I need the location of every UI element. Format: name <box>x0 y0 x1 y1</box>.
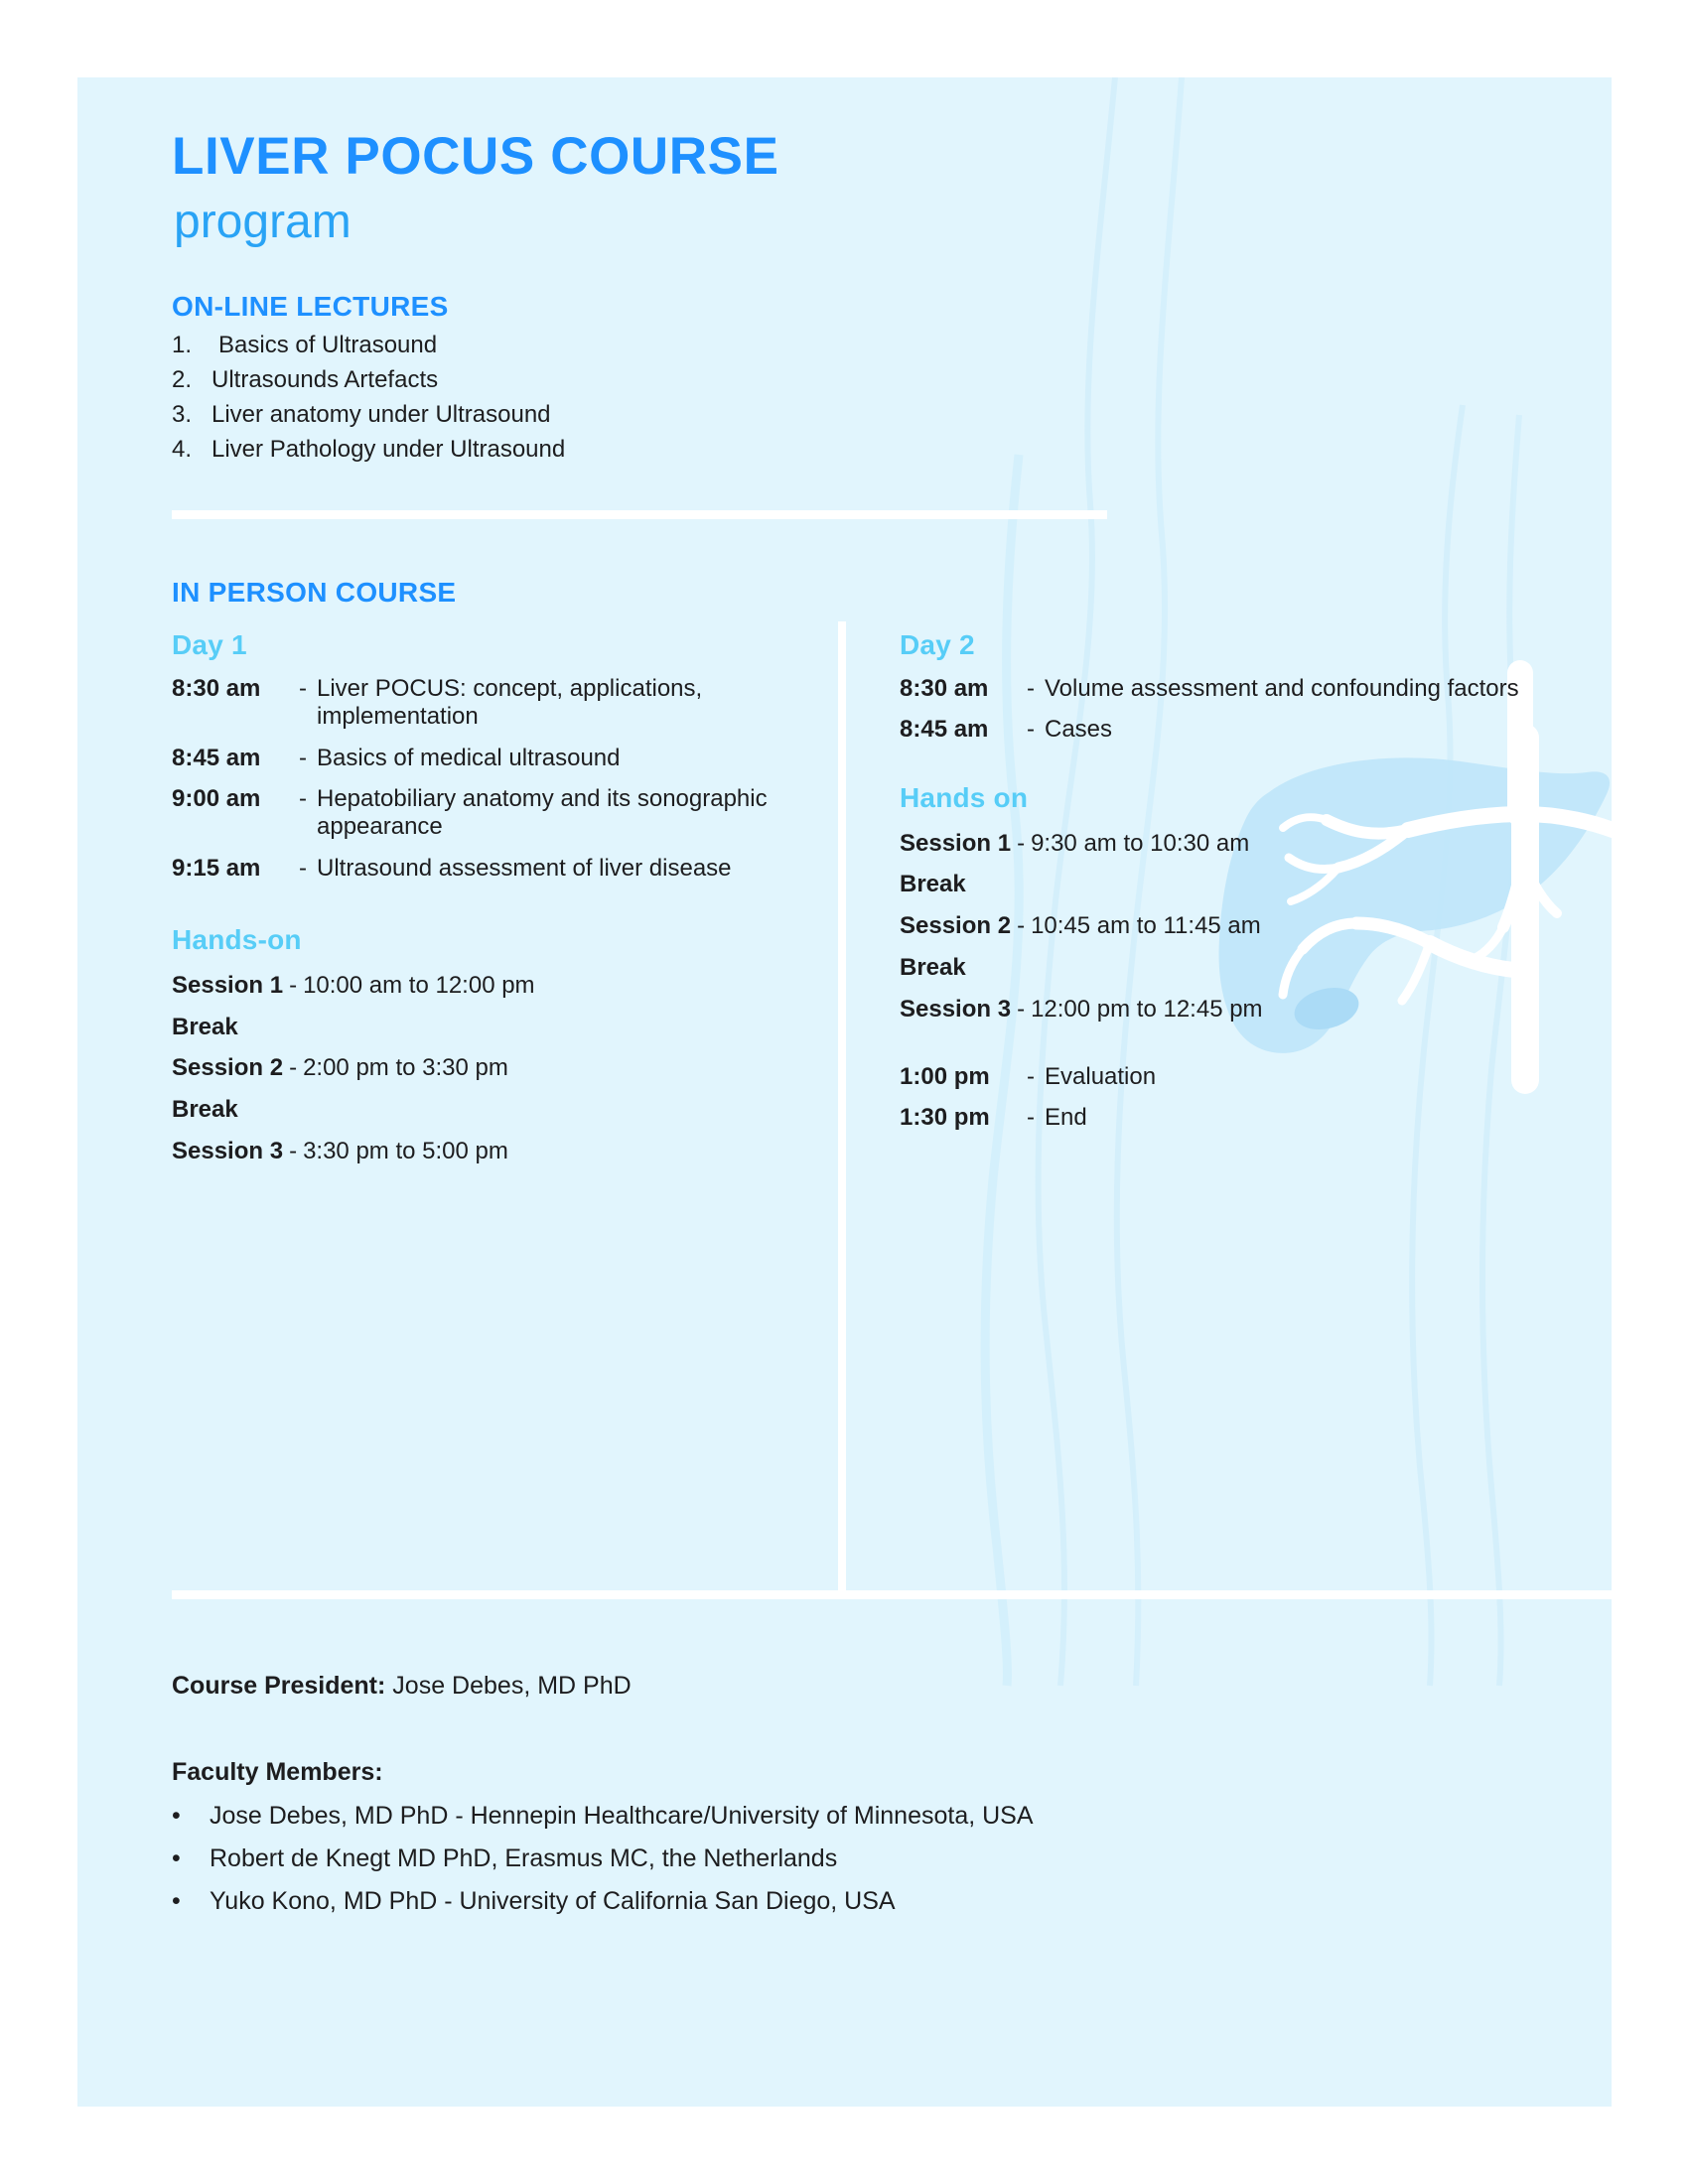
section-divider-top <box>172 510 1107 519</box>
schedule-dash: - <box>289 855 317 883</box>
schedule-description: Liver POCUS: concept, applications, impl… <box>317 675 807 732</box>
session-time: 12:00 pm to 12:45 pm <box>1031 996 1262 1024</box>
list-item-label: Liver Pathology under Ultrasound <box>211 438 565 462</box>
faculty-section: Course President: Jose Debes, MD PhD Fac… <box>172 1671 1542 1929</box>
schedule-dash: - <box>289 675 317 703</box>
bullet-icon: • <box>172 1801 210 1831</box>
session-time: 9:30 am to 10:30 am <box>1031 830 1249 859</box>
list-item: • Jose Debes, MD PhD - Hennepin Healthca… <box>172 1801 1542 1831</box>
schedule-dash: - <box>1017 716 1045 744</box>
break-row: Break <box>172 1096 807 1125</box>
session-time: 2:00 pm to 3:30 pm <box>303 1054 508 1083</box>
list-item-number: 4. <box>172 438 211 462</box>
schedule-row: 9:15 am - Ultrasound assessment of liver… <box>172 855 807 883</box>
spacer <box>900 1037 1545 1063</box>
list-item-number: 2. <box>172 368 211 392</box>
list-item-label: Basics of Ultrasound <box>211 334 437 357</box>
schedule-row: 9:00 am - Hepatobiliary anatomy and its … <box>172 785 807 842</box>
day-2-column: Day 2 8:30 am - Volume assessment and co… <box>900 629 1545 1145</box>
section-divider-bottom <box>172 1590 1612 1599</box>
schedule-time: 8:30 am <box>172 675 289 703</box>
schedule-dash: - <box>1017 1063 1045 1091</box>
schedule-time: 9:15 am <box>172 855 289 883</box>
program-page: LIVER POCUS COURSE program ON-LINE LECTU… <box>77 77 1612 2107</box>
schedule-time: 8:45 am <box>172 745 289 772</box>
session-time: 3:30 pm to 5:00 pm <box>303 1138 508 1166</box>
session-row: Session 1 - 9:30 am to 10:30 am <box>900 830 1545 859</box>
day-2-hands-on-heading: Hands on <box>900 782 1545 814</box>
schedule-row: 8:45 am - Cases <box>900 716 1545 744</box>
list-item: 3. Liver anatomy under Ultrasound <box>172 403 565 427</box>
course-president: Course President: Jose Debes, MD PhD <box>172 1671 1542 1701</box>
column-divider <box>838 621 846 1590</box>
schedule-description: Ultrasound assessment of liver disease <box>317 855 807 883</box>
list-item: • Robert de Knegt MD PhD, Erasmus MC, th… <box>172 1843 1542 1873</box>
session-row: Session 1 - 10:00 am to 12:00 pm <box>172 972 807 1001</box>
online-lectures-heading: ON-LINE LECTURES <box>172 291 449 323</box>
schedule-time: 8:45 am <box>900 716 1017 744</box>
session-separator: - <box>283 972 303 1001</box>
list-item-number: 1. <box>172 334 211 357</box>
schedule-time: 9:00 am <box>172 785 289 813</box>
page-header: LIVER POCUS COURSE program <box>172 129 779 248</box>
schedule-time: 8:30 am <box>900 675 1017 703</box>
schedule-dash: - <box>1017 675 1045 703</box>
session-separator: - <box>1011 912 1031 941</box>
break-row: Break <box>900 954 1545 983</box>
schedule-description: Cases <box>1045 716 1545 744</box>
session-label: Session 1 <box>900 830 1011 859</box>
list-item: 2. Ultrasounds Artefacts <box>172 368 565 392</box>
session-separator: - <box>283 1138 303 1166</box>
break-row: Break <box>172 1014 807 1042</box>
session-separator: - <box>1011 996 1031 1024</box>
list-item: 4. Liver Pathology under Ultrasound <box>172 438 565 462</box>
list-item-label: Robert de Knegt MD PhD, Erasmus MC, the … <box>210 1843 837 1873</box>
session-label: Session 3 <box>172 1138 283 1166</box>
schedule-description: Evaluation <box>1045 1063 1545 1091</box>
session-row: Session 2 - 2:00 pm to 3:30 pm <box>172 1054 807 1083</box>
schedule-description: Hepatobiliary anatomy and its sonographi… <box>317 785 807 842</box>
schedule-time: 1:30 pm <box>900 1104 1017 1132</box>
online-lectures-list: 1. Basics of Ultrasound 2. Ultrasounds A… <box>172 334 565 473</box>
list-item: 1. Basics of Ultrasound <box>172 334 565 357</box>
faculty-members-heading: Faculty Members: <box>172 1758 1542 1787</box>
schedule-row: 8:30 am - Volume assessment and confound… <box>900 675 1545 703</box>
schedule-dash: - <box>289 785 317 813</box>
session-row: Session 3 - 12:00 pm to 12:45 pm <box>900 996 1545 1024</box>
faculty-members-list: • Jose Debes, MD PhD - Hennepin Healthca… <box>172 1801 1542 1916</box>
session-label: Session 3 <box>900 996 1011 1024</box>
page-title: LIVER POCUS COURSE <box>172 129 779 185</box>
session-time: 10:45 am to 11:45 am <box>1031 912 1261 941</box>
session-time: 10:00 am to 12:00 pm <box>303 972 534 1001</box>
day-1-heading: Day 1 <box>172 629 807 661</box>
schedule-dash: - <box>1017 1104 1045 1132</box>
day-1-hands-on-heading: Hands-on <box>172 924 807 956</box>
schedule-time: 1:00 pm <box>900 1063 1017 1091</box>
schedule-row: 8:45 am - Basics of medical ultrasound <box>172 745 807 772</box>
break-row: Break <box>900 871 1545 899</box>
session-row: Session 2 - 10:45 am to 11:45 am <box>900 912 1545 941</box>
schedule-description: Basics of medical ultrasound <box>317 745 807 772</box>
list-item-label: Jose Debes, MD PhD - Hennepin Healthcare… <box>210 1801 1034 1831</box>
schedule-description: Volume assessment and confounding factor… <box>1045 675 1545 703</box>
session-label: Session 1 <box>172 972 283 1001</box>
schedule-row: 8:30 am - Liver POCUS: concept, applicat… <box>172 675 807 732</box>
schedule-dash: - <box>289 745 317 772</box>
list-item-label: Yuko Kono, MD PhD - University of Califo… <box>210 1886 896 1916</box>
list-item-number: 3. <box>172 403 211 427</box>
page-subtitle: program <box>174 197 779 249</box>
session-row: Session 3 - 3:30 pm to 5:00 pm <box>172 1138 807 1166</box>
list-item-label: Ultrasounds Artefacts <box>211 368 438 392</box>
schedule-row: 1:30 pm - End <box>900 1104 1545 1132</box>
bullet-icon: • <box>172 1843 210 1873</box>
day-1-column: Day 1 8:30 am - Liver POCUS: concept, ap… <box>172 629 807 1179</box>
list-item: • Yuko Kono, MD PhD - University of Cali… <box>172 1886 1542 1916</box>
list-item-label: Liver anatomy under Ultrasound <box>211 403 551 427</box>
session-label: Session 2 <box>172 1054 283 1083</box>
session-label: Session 2 <box>900 912 1011 941</box>
schedule-description: End <box>1045 1104 1545 1132</box>
bullet-icon: • <box>172 1886 210 1916</box>
course-president-label: Course President: <box>172 1672 385 1700</box>
course-president-name: Jose Debes, MD PhD <box>392 1672 631 1700</box>
in-person-course-heading: IN PERSON COURSE <box>172 577 456 609</box>
session-separator: - <box>283 1054 303 1083</box>
session-separator: - <box>1011 830 1031 859</box>
day-2-heading: Day 2 <box>900 629 1545 661</box>
schedule-row: 1:00 pm - Evaluation <box>900 1063 1545 1091</box>
